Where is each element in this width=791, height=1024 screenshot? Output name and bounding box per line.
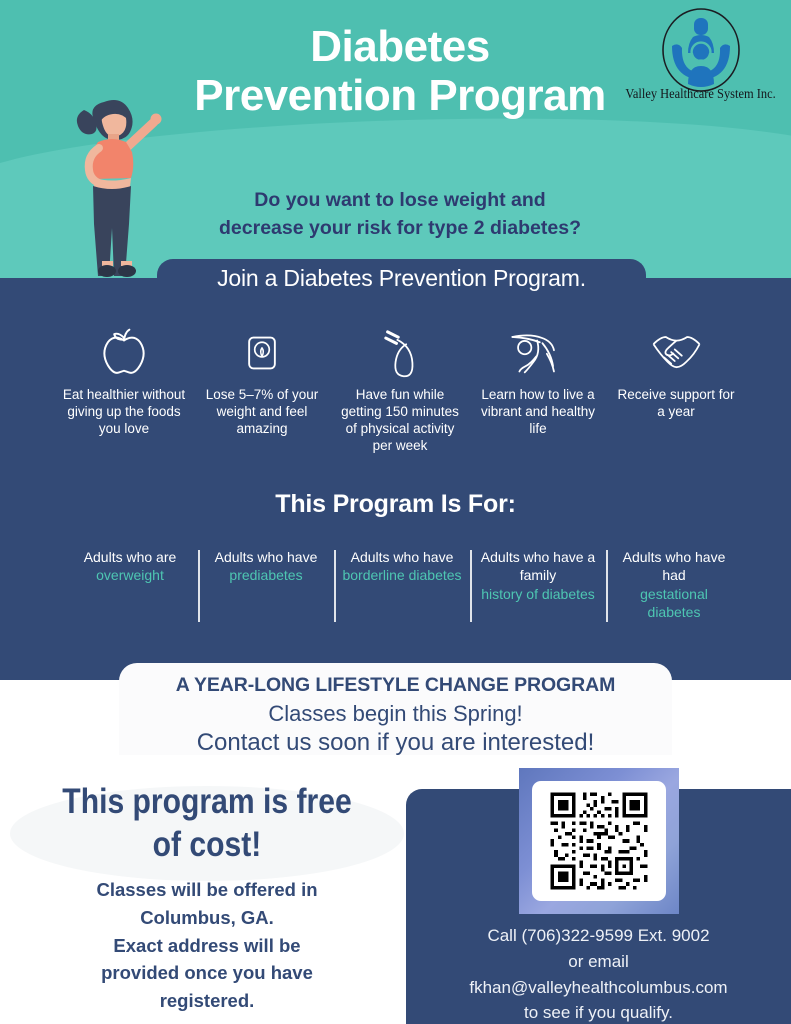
contact-panel: Call (706)322-9599 Ext. 9002 or email fk… xyxy=(406,789,791,1024)
classes-line-1: Classes will be offered in xyxy=(22,876,392,904)
classes-line-2: Columbus, GA. xyxy=(22,904,392,932)
poster-subtitle-line2: decrease your risk for type 2 diabetes? xyxy=(120,214,680,242)
poster-subtitle-line1: Do you want to lose weight and xyxy=(120,186,680,214)
scale-icon xyxy=(198,316,326,378)
poster-title-line1: Diabetes xyxy=(150,22,650,71)
benefit-text: Lose 5–7% of your weight and feel amazin… xyxy=(198,386,326,437)
benefit-item: Have fun while getting 150 minutes of ph… xyxy=(336,316,464,454)
benefit-text: Eat healthier without giving up the food… xyxy=(60,386,188,437)
program-for-highlight: prediabetes xyxy=(204,566,328,584)
contact-qualify-note: to see if you qualify. xyxy=(416,1000,781,1024)
contact-details: Call (706)322-9599 Ext. 9002 or email fk… xyxy=(416,923,781,1024)
join-program-banner: Join a Diabetes Prevention Program. xyxy=(157,259,646,297)
qr-code-frame xyxy=(519,768,679,914)
program-for-column: Adults who have prediabetes xyxy=(198,548,334,585)
program-for-column: Adults who have borderline diabetes xyxy=(334,548,470,585)
program-for-column: Adults who are overweight xyxy=(62,548,198,585)
program-for-highlight: borderline diabetes xyxy=(340,566,464,584)
program-for-title: This Program Is For: xyxy=(0,490,791,519)
poster-header: Diabetes Prevention Program Do you want … xyxy=(0,0,791,278)
program-for-plain: Adults who have xyxy=(204,548,328,566)
benefit-text: Learn how to live a vibrant and healthy … xyxy=(474,386,602,437)
program-for-highlight: history of diabetes xyxy=(476,585,600,603)
benefit-item: Receive support for a year xyxy=(612,316,740,420)
program-for-plain: Adults who are xyxy=(68,548,192,566)
qr-code-icon[interactable] xyxy=(532,781,666,901)
poster-title: Diabetes Prevention Program xyxy=(150,22,650,121)
free-program-title: This program is free of cost! xyxy=(41,780,373,867)
program-for-plain: Adults who have had xyxy=(612,548,736,585)
classes-line-4: provided once you have xyxy=(22,959,392,987)
poster-title-line2: Prevention Program xyxy=(150,71,650,120)
free-program-title-line1: This program is free xyxy=(41,780,373,823)
stretching-person-icon xyxy=(474,316,602,378)
program-for-highlight: overweight xyxy=(68,566,192,584)
contact-phone: Call (706)322-9599 Ext. 9002 xyxy=(416,923,781,949)
benefit-text: Receive support for a year xyxy=(612,386,740,420)
benefits-row: Eat healthier without giving up the food… xyxy=(60,316,740,454)
poster-subtitle: Do you want to lose weight and decrease … xyxy=(120,186,680,243)
classes-line-3: Exact address will be xyxy=(22,932,392,960)
contact-or-email-label: or email xyxy=(416,949,781,975)
classes-line-5: registered. xyxy=(22,987,392,1015)
year-long-program-banner: A YEAR-LONG LIFESTYLE CHANGE PROGRAM Cla… xyxy=(119,663,672,755)
banner-subline-1: Classes begin this Spring! xyxy=(119,701,672,727)
classes-location-text: Classes will be offered in Columbus, GA.… xyxy=(22,876,392,1015)
banner-headline: A YEAR-LONG LIFESTYLE CHANGE PROGRAM xyxy=(119,663,672,697)
apple-icon xyxy=(60,316,188,378)
diabetes-prevention-poster: Diabetes Prevention Program Do you want … xyxy=(0,0,791,1024)
program-for-column: Adults who have had gestational diabetes xyxy=(606,548,742,622)
benefit-item: Learn how to live a vibrant and healthy … xyxy=(474,316,602,437)
banner-subline-2: Contact us soon if you are interested! xyxy=(119,729,672,757)
contact-email[interactable]: fkhan@valleyhealthcolumbus.com xyxy=(416,975,781,1001)
benefit-text: Have fun while getting 150 minutes of ph… xyxy=(336,386,464,454)
program-for-column: Adults who have a family history of diab… xyxy=(470,548,606,603)
benefit-item: Lose 5–7% of your weight and feel amazin… xyxy=(198,316,326,437)
program-for-plain: Adults who have a family xyxy=(476,548,600,585)
program-for-row: Adults who are overweight Adults who hav… xyxy=(62,548,742,622)
join-program-banner-label: Join a Diabetes Prevention Program. xyxy=(217,265,586,292)
program-for-plain: Adults who have xyxy=(340,548,464,566)
benefit-item: Eat healthier without giving up the food… xyxy=(60,316,188,437)
valley-healthcare-logo: Valley Healthcare System Inc. xyxy=(618,8,783,116)
program-for-highlight: gestational diabetes xyxy=(612,585,736,622)
handshake-icon xyxy=(612,316,740,378)
jump-rope-icon xyxy=(336,316,464,378)
logo-text: Valley Healthcare System Inc. xyxy=(625,86,777,102)
free-program-title-line2: of cost! xyxy=(41,823,373,866)
